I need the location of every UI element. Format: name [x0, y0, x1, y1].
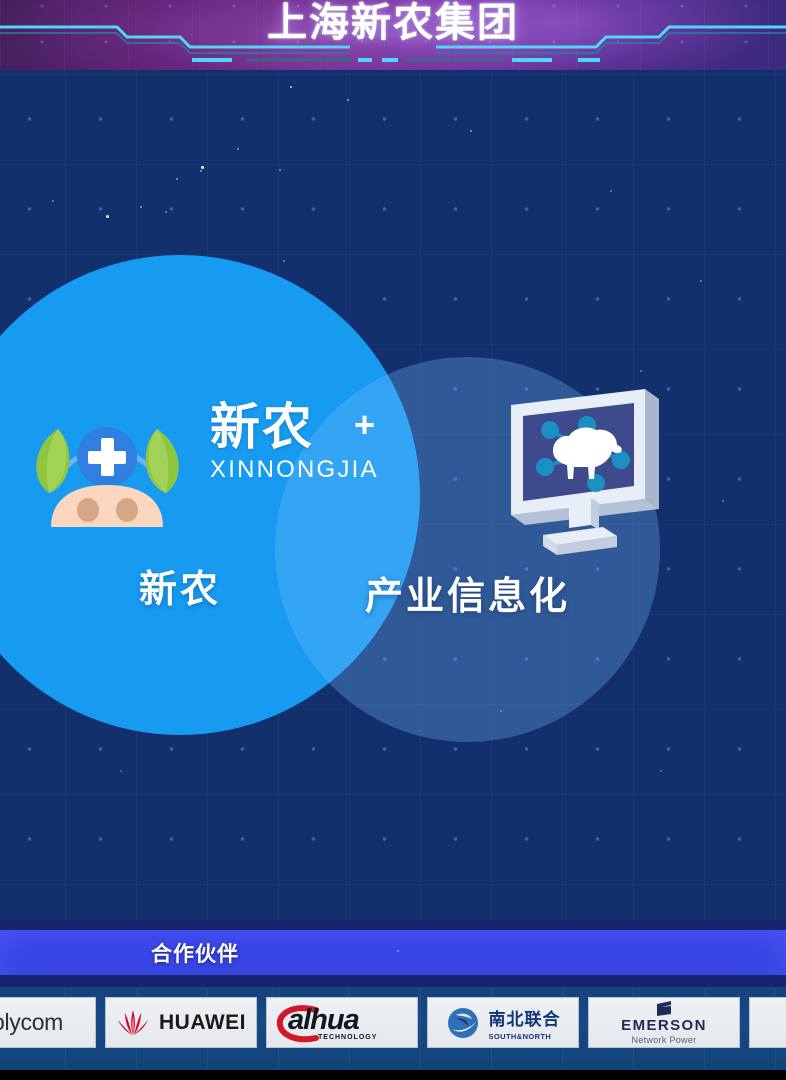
partner-bar-top-edge [0, 920, 786, 930]
partner-logo-area: Polycom HUAWEI [0, 987, 786, 1070]
xinnong-wordmark: 新农 + XINNONGJIA [210, 401, 410, 484]
partner-section-bar: 合作伙伴 [0, 930, 786, 975]
emerson-mark-icon [654, 1000, 674, 1016]
partner-logo-huawei[interactable]: HUAWEI [105, 997, 257, 1048]
partner-logo-polycom-text: Polycom [0, 1009, 63, 1036]
huawei-flower-icon [116, 1008, 150, 1038]
partner-logo-emerson[interactable]: EMERSON Network Power [588, 997, 740, 1048]
monitor-pig-network-icon [495, 383, 675, 568]
app-screen: 上海新农集团 [0, 0, 786, 1080]
partner-logo-huawei-text: HUAWEI [159, 1011, 246, 1035]
brand-name-cn: 新农 [210, 399, 314, 455]
partner-logo-southnorth-text: 南北联合 [489, 1005, 561, 1030]
partner-bar-marker [397, 950, 399, 952]
partner-bar-bottom-edge [0, 975, 786, 987]
page-title: 上海新农集团 [0, 0, 786, 48]
partner-logo-dahua-text: alhua [288, 1004, 359, 1037]
header-banner: 上海新农集团 [0, 0, 786, 70]
partner-logo-dahua-sub: TECHNOLOGY [318, 1034, 377, 1041]
partner-logo-southnorth-sub: SOUTH&NORTH [489, 1032, 561, 1041]
partner-logo-emerson-sub: Network Power [632, 1035, 697, 1045]
pig-head-leaf-logo-icon [15, 405, 200, 535]
partner-logo-southnorth[interactable]: 南北联合 SOUTH&NORTH [427, 997, 579, 1048]
brand-name-en: XINNONGJIA [210, 456, 410, 484]
partner-logo-polycom[interactable]: Polycom [0, 997, 96, 1048]
partner-logo-emerson-text: EMERSON [621, 1017, 707, 1034]
southnorth-globe-icon [446, 1006, 482, 1040]
partner-section-title: 合作伙伴 [0, 930, 390, 975]
brand-plus-sign: + [354, 407, 375, 443]
circle-label-industry-informatization: 产业信息化 [275, 565, 660, 620]
partner-logo-dahua[interactable]: alhua TECHNOLOGY [266, 997, 418, 1048]
partner-logo-strip[interactable]: Polycom HUAWEI [0, 997, 786, 1048]
partner-logo-globe[interactable] [749, 997, 786, 1048]
xinnong-brand-lockup: 新农 + XINNONGJIA [10, 395, 410, 540]
bottom-black-bar [0, 1070, 786, 1080]
